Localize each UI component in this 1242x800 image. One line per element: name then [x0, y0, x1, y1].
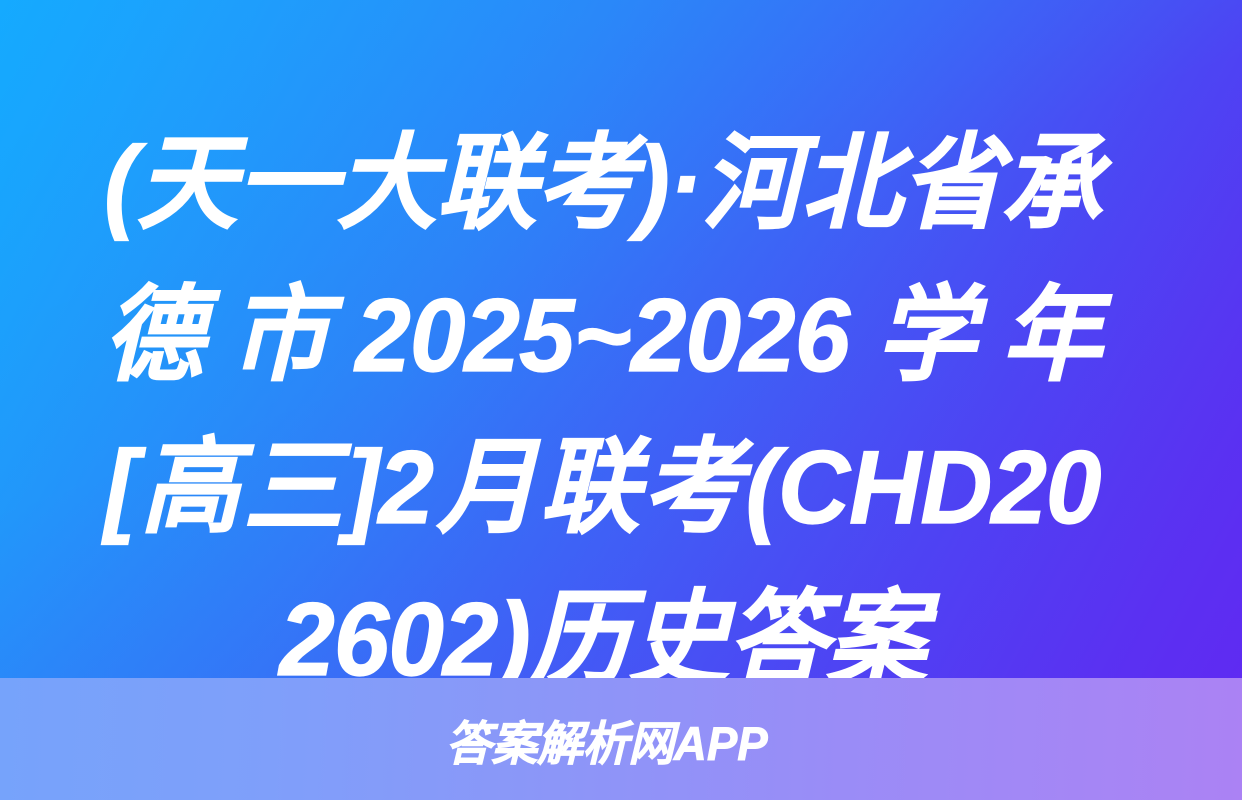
footer-brand-band: 答案解析网APP: [0, 678, 1242, 800]
footer-brand-label: 答案解析网APP: [446, 705, 768, 774]
page-title: (天一大联考)·河北省承德市2025~2026学年[高三]2月联考(CHD202…: [104, 108, 1100, 716]
poster-canvas: (天一大联考)·河北省承德市2025~2026学年[高三]2月联考(CHD202…: [0, 0, 1242, 800]
